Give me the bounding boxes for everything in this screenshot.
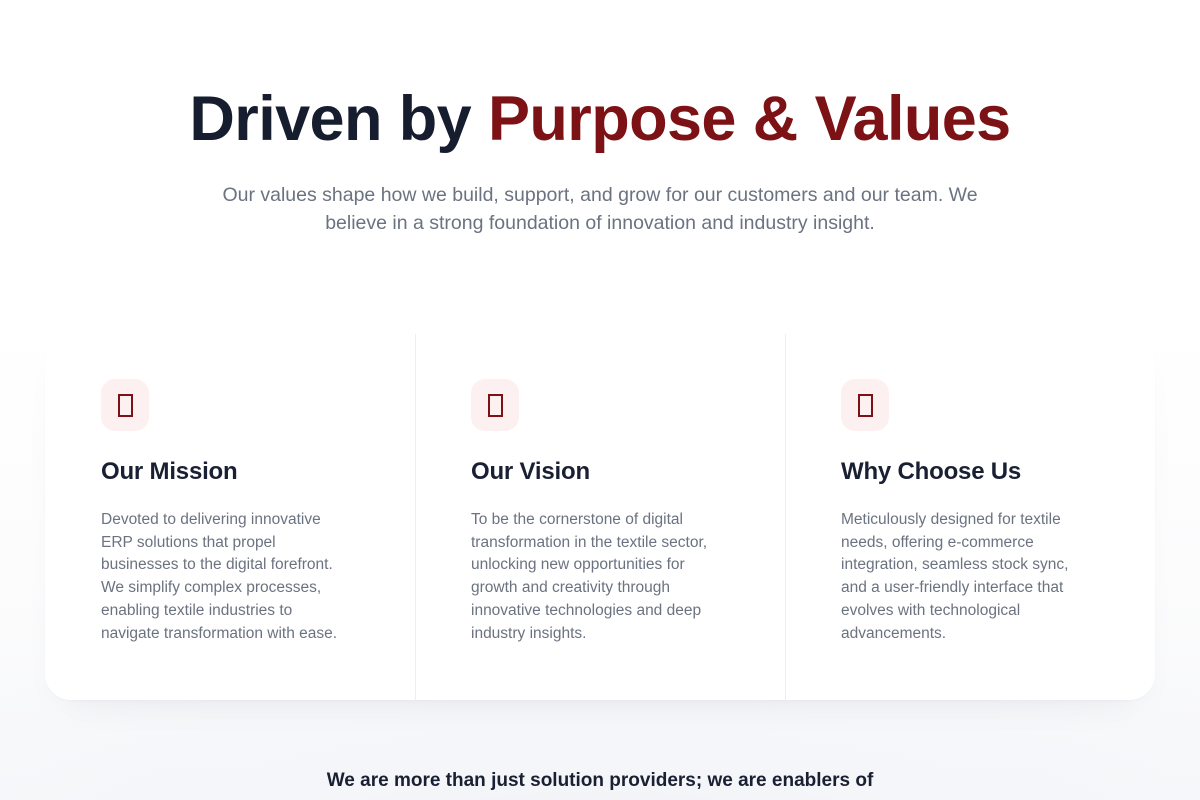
- section-header: Driven by Purpose & Values Our values sh…: [0, 0, 1200, 237]
- bottom-statement: We are more than just solution providers…: [0, 766, 1200, 796]
- page-title-lead: Driven by: [189, 84, 488, 154]
- value-card-vision: Our Vision To be the cornerstone of digi…: [415, 334, 785, 700]
- values-cards-panel: Our Mission Devoted to delivering innova…: [45, 334, 1155, 700]
- value-card-why-choose-us: Why Choose Us Meticulously designed for …: [785, 334, 1155, 700]
- missing-glyph-icon: [841, 379, 889, 431]
- tofu-box-icon: [118, 394, 133, 417]
- bottom-statement-text: We are more than just solution providers…: [0, 766, 1200, 796]
- value-card-title: Our Vision: [471, 457, 729, 487]
- value-card-title: Our Mission: [101, 457, 359, 487]
- values-cards-panel-wrapper: Our Mission Devoted to delivering innova…: [45, 334, 1155, 700]
- tofu-box-icon: [858, 394, 873, 417]
- page-title: Driven by Purpose & Values: [0, 86, 1200, 153]
- page-title-accent: Purpose & Values: [488, 84, 1011, 154]
- value-card-mission: Our Mission Devoted to delivering innova…: [45, 334, 415, 700]
- missing-glyph-icon: [471, 379, 519, 431]
- tofu-box-icon: [488, 394, 503, 417]
- missing-glyph-icon: [101, 379, 149, 431]
- section-subtitle: Our values shape how we build, support, …: [220, 181, 980, 237]
- values-section: Driven by Purpose & Values Our values sh…: [0, 0, 1200, 800]
- value-card-title: Why Choose Us: [841, 457, 1099, 487]
- value-card-body: Meticulously designed for textile needs,…: [841, 509, 1093, 645]
- value-card-body: To be the cornerstone of digital transfo…: [471, 509, 723, 645]
- value-card-body: Devoted to delivering innovative ERP sol…: [101, 509, 353, 645]
